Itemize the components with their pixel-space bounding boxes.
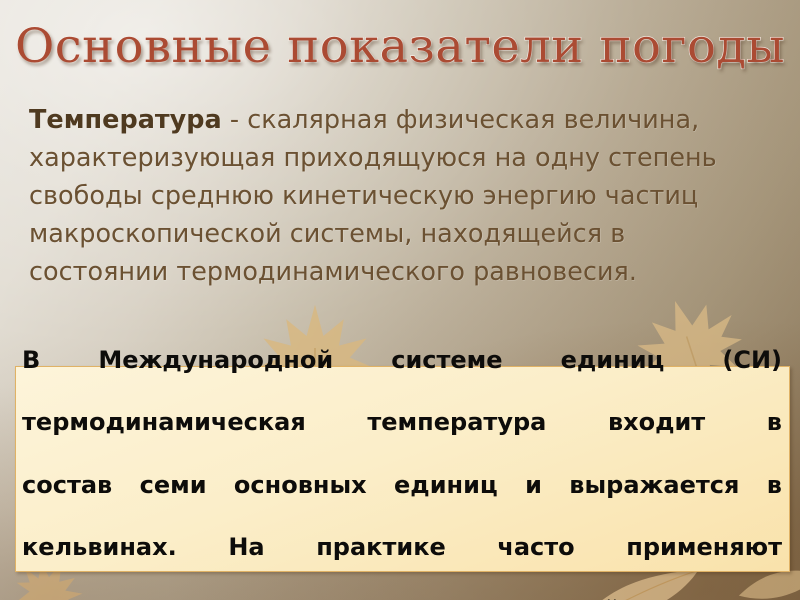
callout-line: кельвинах. На практике часто применяют — [22, 532, 782, 594]
slide-title: Основные показатели погоды — [0, 18, 800, 76]
callout-line: градусы Цельсия из-за исторической привя… — [22, 595, 782, 600]
presentation-slide: Основные показатели погоды Температура -… — [0, 0, 800, 600]
definition-term: Температура — [29, 105, 222, 135]
callout-line: термодинамическая температура входит в — [22, 407, 782, 469]
definition-paragraph: Температура - скалярная физическая велич… — [29, 101, 771, 291]
callout-line: состав семи основных единиц и выражается… — [22, 470, 782, 532]
callout-paragraph: В Международной системе единиц (СИ) терм… — [22, 345, 782, 600]
callout-line: В Международной системе единиц (СИ) — [22, 345, 782, 407]
